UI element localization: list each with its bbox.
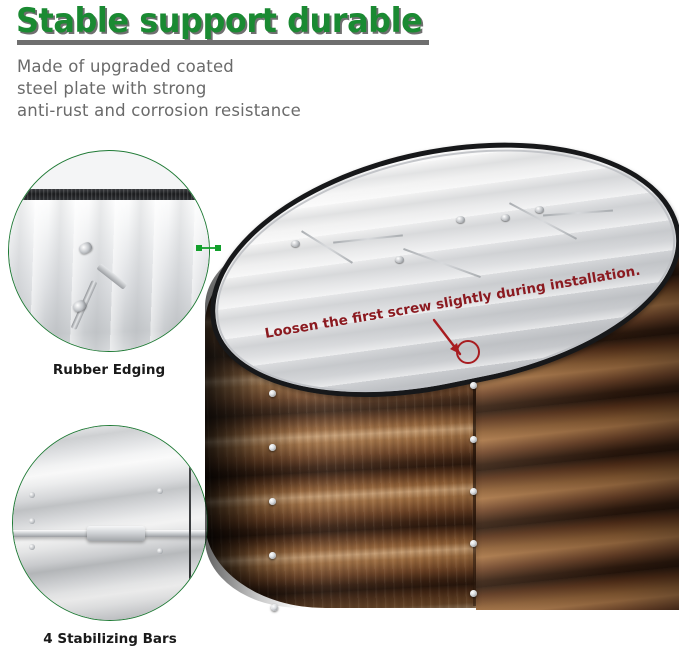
interior-screw	[501, 214, 510, 221]
body-screw	[271, 604, 278, 611]
interior-screw	[291, 240, 300, 247]
rubber-edging-strip	[8, 189, 210, 200]
body-screw	[470, 590, 477, 597]
detail-screw	[29, 492, 35, 498]
callout-connector-line	[196, 240, 222, 256]
interior-screw	[535, 206, 544, 213]
callout-rubber-edging: Rubber Edging	[8, 150, 210, 400]
panel-edge-seam	[189, 444, 191, 614]
body-screw	[470, 488, 477, 495]
product-illustration: Loosen the first screw slightly during i…	[0, 140, 679, 660]
detail-screw	[29, 518, 35, 524]
body-screw	[269, 390, 276, 397]
product-feature-image: Stable support durable Made of upgraded …	[0, 0, 679, 660]
page-title: Stable support durable	[16, 2, 422, 41]
callout-stabilizing-bars: 4 Stabilizing Bars	[12, 425, 208, 660]
body-screw	[470, 382, 477, 389]
header-block: Stable support durable Made of upgraded …	[0, 0, 679, 140]
body-screw	[269, 444, 276, 451]
detail-screw	[157, 488, 163, 494]
body-screw	[470, 436, 477, 443]
detail-screw	[157, 548, 163, 554]
interior-screw	[395, 256, 404, 263]
corrugated-panel-detail	[12, 425, 208, 621]
raised-garden-bed	[205, 154, 679, 634]
callout-circle-stabilizing-bars	[12, 425, 208, 621]
interior-screw-highlighted	[456, 216, 465, 223]
body-screw	[269, 552, 276, 559]
body-screw	[470, 540, 477, 547]
detail-screw	[29, 544, 35, 550]
callout-label-stabilizing-bars: 4 Stabilizing Bars	[12, 631, 208, 647]
callout-label-rubber-edging: Rubber Edging	[8, 362, 210, 378]
subtitle-text: Made of upgraded coated steel plate with…	[17, 56, 301, 122]
stabilizing-bar-coupler	[87, 526, 145, 541]
callout-circle-rubber-edging	[8, 150, 210, 352]
title-underline-rule	[17, 40, 429, 45]
body-screw	[269, 498, 276, 505]
annotation-arrow-icon	[430, 318, 478, 366]
